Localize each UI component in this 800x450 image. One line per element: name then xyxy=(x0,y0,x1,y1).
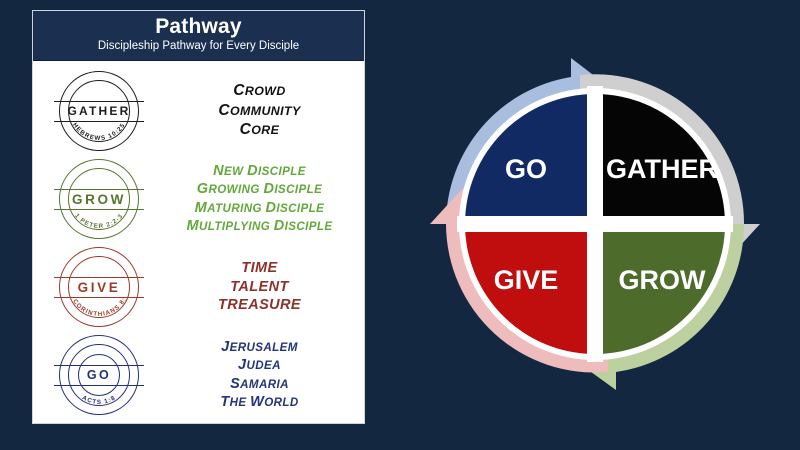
pathway-row: GIVE 2 CORINTHIANS 8:5 TIME TALENT TREAS… xyxy=(33,243,364,331)
wheel-svg: GO GATHER GROW GIVE xyxy=(430,38,760,406)
list-item: THE WORLD xyxy=(165,393,354,411)
page-title: Pathway xyxy=(33,16,364,38)
seal-reference-arc: ACTS 1:8 xyxy=(59,335,139,415)
wheel-label-give: GIVE xyxy=(494,265,559,295)
list-item: GROWING DISCIPLE xyxy=(165,180,354,198)
pathway-card: Pathway Discipleship Pathway for Every D… xyxy=(32,10,365,424)
seal-reference-arc: 2 CORINTHIANS 8:5 xyxy=(59,247,139,327)
wheel-label-go: GO xyxy=(505,154,547,184)
list-item: MATURING DISCIPLE xyxy=(165,199,354,217)
badge-cell: GROW 1 PETER 2:2-3 xyxy=(33,159,165,239)
page-subtitle: Discipleship Pathway for Every Disciple xyxy=(33,40,364,53)
pathway-item-list: TIME TALENT TREASURE xyxy=(165,259,364,314)
list-item: SAMARIA xyxy=(165,375,354,393)
slide-canvas: Pathway Discipleship Pathway for Every D… xyxy=(0,0,800,450)
gather-seal-badge: GATHER HEBREWS 10:25 xyxy=(59,71,139,151)
grow-seal-badge: GROW 1 PETER 2:2-3 xyxy=(59,159,139,239)
seal-reference-text: HEBREWS 10:25 xyxy=(71,121,127,141)
pathway-item-list: NEW DISCIPLE GROWING DISCIPLE MATURING D… xyxy=(165,162,364,235)
list-item: NEW DISCIPLE xyxy=(165,162,354,180)
pathway-item-list: CROWD COMMUNITY CORE xyxy=(165,81,364,140)
list-item: JERUSALEM xyxy=(165,338,354,356)
list-item: TIME xyxy=(165,259,354,277)
wheel-divider-horizontal xyxy=(457,216,733,232)
list-item: JUDEA xyxy=(165,356,354,374)
seal-reference-arc: HEBREWS 10:25 xyxy=(59,71,139,151)
badge-cell: GATHER HEBREWS 10:25 xyxy=(33,71,165,151)
seal-reference-text: 2 CORINTHIANS 8:5 xyxy=(57,242,128,318)
list-item: TREASURE xyxy=(165,296,354,314)
badge-cell: GO ACTS 1:8 xyxy=(33,335,165,415)
wheel-label-grow: GROW xyxy=(619,265,707,295)
pathway-row-list: GATHER HEBREWS 10:25 CROWD xyxy=(33,61,364,419)
pathway-item-list: JERUSALEM JUDEA SAMARIA THE WORLD xyxy=(165,338,364,411)
list-item: MULTIPLYING DISCIPLE xyxy=(165,217,354,235)
card-header: Pathway Discipleship Pathway for Every D… xyxy=(33,11,364,61)
give-seal-badge: GIVE 2 CORINTHIANS 8:5 xyxy=(59,247,139,327)
seal-reference-arc: 1 PETER 2:2-3 xyxy=(59,159,139,239)
pathway-row: GO ACTS 1:8 JERUSALEM JUDEA xyxy=(33,331,364,419)
pathway-row: GATHER HEBREWS 10:25 CROWD xyxy=(33,67,364,155)
list-item: COMMUNITY xyxy=(165,101,354,121)
list-item: CORE xyxy=(165,120,354,140)
seal-reference-text: ACTS 1:8 xyxy=(81,394,117,406)
pathway-cycle-diagram: GO GATHER GROW GIVE xyxy=(430,38,760,406)
badge-cell: GIVE 2 CORINTHIANS 8:5 xyxy=(33,247,165,327)
pathway-row: GROW 1 PETER 2:2-3 NEW DISCIPLE xyxy=(33,155,364,243)
seal-reference-text: 1 PETER 2:2-3 xyxy=(73,212,125,230)
wheel-label-gather: GATHER xyxy=(606,154,718,184)
go-seal-badge: GO ACTS 1:8 xyxy=(59,335,139,415)
list-item: CROWD xyxy=(165,81,354,101)
list-item: TALENT xyxy=(165,278,354,296)
